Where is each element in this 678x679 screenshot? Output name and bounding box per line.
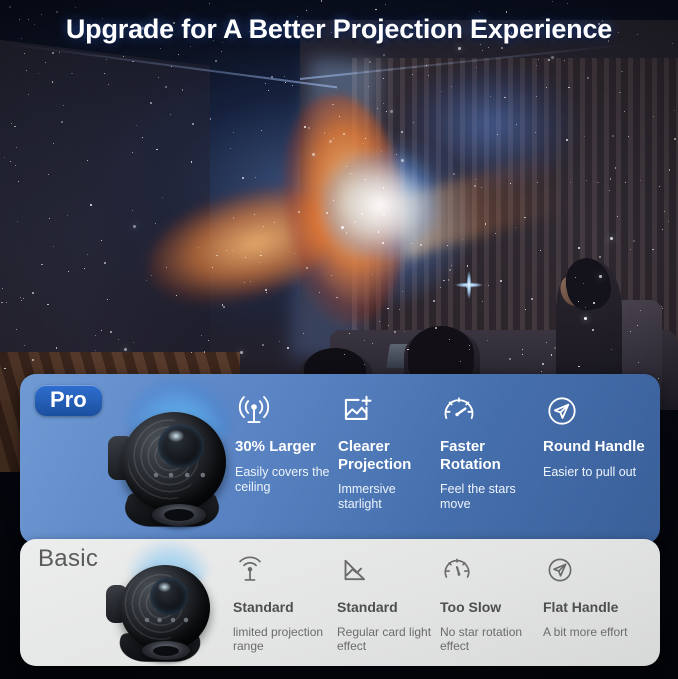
- basic-feature-4-subtitle: A bit more effort: [543, 625, 653, 639]
- basic-buttons: [142, 615, 192, 625]
- infographic-root: Upgrade for A Better Projection Experien…: [0, 0, 678, 679]
- basic-feature-4-title: Flat Handle: [543, 599, 653, 616]
- pro-feature-1: 30% Larger Easily covers the ceiling: [235, 392, 339, 495]
- send-circle-icon: [543, 392, 647, 432]
- signal-half-icon: [233, 553, 343, 593]
- signal-broadcast-icon: [235, 392, 339, 432]
- basic-feature-2: Standard Regular card light effect: [337, 553, 447, 653]
- basic-feature-2-subtitle: Regular card light effect: [337, 625, 447, 654]
- basic-feature-3-title: Too Slow: [440, 599, 550, 616]
- pro-buttons: [150, 470, 210, 480]
- pro-feature-3-title: Faster Rotation: [440, 438, 544, 473]
- image-plus-icon: [338, 392, 442, 432]
- pro-product-image: [98, 390, 248, 532]
- send-circle-icon: [543, 553, 653, 593]
- pro-feature-3: Faster Rotation Feel the stars move: [440, 392, 544, 512]
- pro-feature-4: Round Handle Easier to pull out: [543, 392, 647, 480]
- pro-feature-4-title: Round Handle: [543, 438, 647, 456]
- pro-feature-1-subtitle: Easily covers the ceiling: [235, 465, 339, 495]
- speedometer-icon: [440, 392, 544, 432]
- pro-feature-4-subtitle: Easier to pull out: [543, 465, 647, 480]
- basic-feature-3: Too Slow No star rotation effect: [440, 553, 550, 653]
- pro-round-handle-hole: [164, 509, 194, 521]
- basic-comparison-panel: Basic Standard limited pr: [20, 539, 660, 666]
- basic-flat-handle-hole: [153, 646, 179, 656]
- speedometer-slow-icon: [440, 553, 550, 593]
- pro-feature-3-subtitle: Feel the stars move: [440, 482, 544, 512]
- pro-lens-highlight: [168, 430, 184, 442]
- pro-feature-2: Clearer Projection Immersive starlight: [338, 392, 442, 512]
- basic-feature-1-subtitle: limited projection range: [233, 625, 343, 654]
- page-title: Upgrade for A Better Projection Experien…: [0, 14, 678, 45]
- basic-label: Basic: [38, 545, 98, 573]
- basic-feature-4: Flat Handle A bit more effort: [543, 553, 653, 639]
- basic-feature-1-title: Standard: [233, 599, 343, 616]
- pro-comparison-panel: Pro 30% Larger Easily cov: [20, 374, 660, 544]
- basic-lens-highlight: [158, 582, 171, 592]
- pro-feature-2-title: Clearer Projection: [338, 438, 442, 473]
- basic-product-image: [100, 547, 230, 663]
- image-broken-icon: [337, 553, 447, 593]
- pro-feature-1-title: 30% Larger: [235, 438, 339, 456]
- pro-feature-2-subtitle: Immersive starlight: [338, 482, 442, 512]
- pro-badge: Pro: [35, 385, 102, 416]
- basic-feature-1: Standard limited projection range: [233, 553, 343, 653]
- basic-feature-3-subtitle: No star rotation effect: [440, 625, 550, 654]
- basic-feature-2-title: Standard: [337, 599, 447, 616]
